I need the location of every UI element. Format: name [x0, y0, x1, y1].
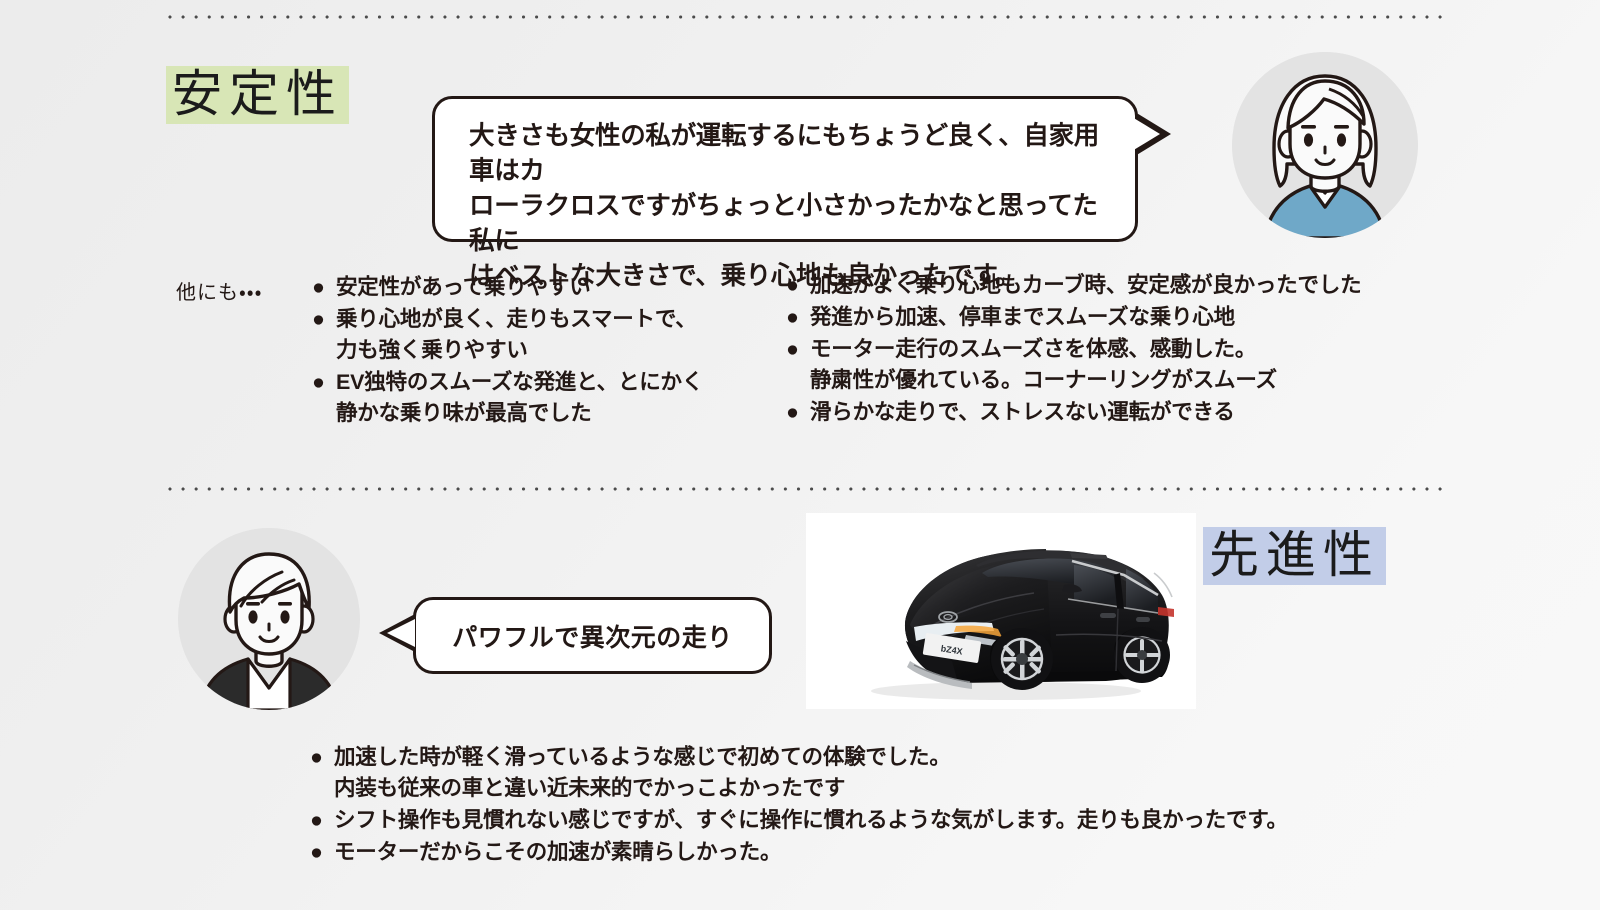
list-item-text: 滑らかな走りで、ストレスない運転ができる — [810, 397, 1386, 428]
male-avatar — [178, 528, 360, 710]
list-item: 滑らかな走りで、ストレスない運転ができる — [786, 397, 1386, 428]
speech-bubble-innovation: パワフルで異次元の走り — [413, 597, 772, 674]
list-item-text: 乗り心地が良く、走りもスマートで、 力も強く乗りやすい — [336, 304, 762, 366]
list-item: シフト操作も見慣れない感じですが、すぐに操作に慣れるような気がします。走りも良か… — [310, 805, 1320, 836]
list-item: 乗り心地が良く、走りもスマートで、 力も強く乗りやすい — [312, 304, 762, 366]
section-heading-innovation: 先進性 — [1203, 527, 1386, 585]
speech-bubble-stability-text: 大きさも女性の私が運転するにもちょうど良く、自家用車はカ ローラクロスですがちょ… — [469, 119, 1111, 294]
speech-bubble-stability-tail-fill — [1132, 117, 1160, 151]
divider-middle — [168, 487, 1442, 491]
list-item: モーターだからこその加速が素晴らしかった。 — [310, 837, 1320, 868]
female-avatar — [1232, 52, 1418, 238]
list-item: 加速がよく乗り心地もカーブ時、安定感が良かったでした — [786, 270, 1386, 301]
list-item: 発進から加速、停車までスムーズな乗り心地 — [786, 302, 1386, 333]
list-item: モーター走行のスムーズさを体感、感動した。 静粛性が優れている。コーナーリングが… — [786, 334, 1386, 396]
list-item: 加速した時が軽く滑っているような感じで初めての体験でした。 内装も従来の車と違い… — [310, 742, 1320, 804]
list-item-text: 発進から加速、停車までスムーズな乗り心地 — [810, 302, 1386, 333]
list-item-text: 加速した時が軽く滑っているような感じで初めての体験でした。 内装も従来の車と違い… — [334, 742, 1320, 804]
speech-bubble-stability: 大きさも女性の私が運転するにもちょうど良く、自家用車はカ ローラクロスですがちょ… — [432, 96, 1138, 242]
list-item: 安定性があって乗りやすい — [312, 272, 762, 303]
list-item-text: シフト操作も見慣れない感じですが、すぐに操作に慣れるような気がします。走りも良か… — [334, 805, 1320, 836]
stability-bullet-list-right: 加速がよく乗り心地もカーブ時、安定感が良かったでした 発進から加速、停車までスム… — [786, 270, 1386, 429]
page-canvas: 安定性 大きさも女性の私が運転するにもちょうど良く、自家用車はカ ローラクロスで… — [0, 0, 1600, 910]
list-item: EV独特のスムーズな発進と、とにかく 静かな乗り味が最高でした — [312, 367, 762, 429]
list-item-text: モーター走行のスムーズさを体感、感動した。 静粛性が優れている。コーナーリングが… — [810, 334, 1386, 396]
innovation-bullet-list: 加速した時が軽く滑っているような感じで初めての体験でした。 内装も従来の車と違い… — [310, 742, 1320, 869]
list-item-text: EV独特のスムーズな発進と、とにかく 静かな乗り味が最高でした — [336, 367, 762, 429]
list-item-text: モーターだからこその加速が素晴らしかった。 — [334, 837, 1320, 868]
speech-bubble-innovation-text: パワフルで異次元の走り — [452, 618, 733, 654]
list-item-text: 安定性があって乗りやすい — [336, 272, 762, 303]
other-comments-label: 他にも・・・ — [176, 276, 262, 305]
divider-top — [168, 15, 1442, 19]
car-photo-bz4x: bZ4X — [806, 513, 1196, 709]
speech-bubble-innovation-tail-fill — [387, 619, 415, 647]
section-heading-stability: 安定性 — [166, 66, 349, 124]
list-item-text: 加速がよく乗り心地もカーブ時、安定感が良かったでした — [810, 270, 1386, 301]
stability-bullet-list-left: 安定性があって乗りやすい 乗り心地が良く、走りもスマートで、 力も強く乗りやすい… — [312, 272, 762, 430]
